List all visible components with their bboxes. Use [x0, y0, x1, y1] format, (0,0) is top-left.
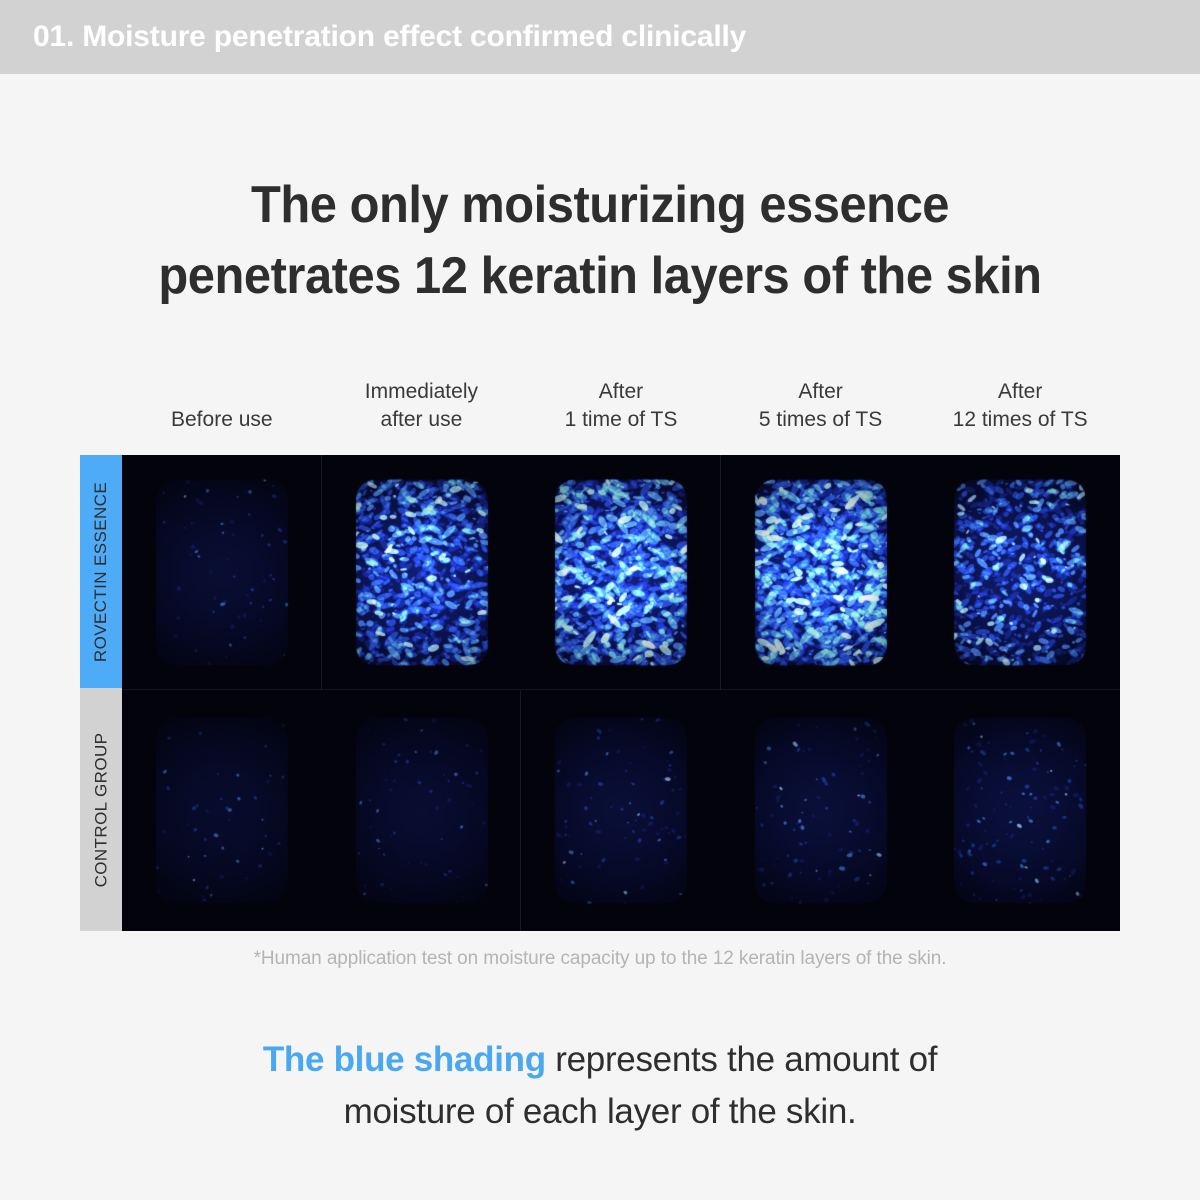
panel-control-before-use — [122, 690, 322, 931]
column-header-line-1: Before use — [122, 406, 322, 434]
caption-line-1: The blue shading represents the amount o… — [0, 1034, 1200, 1086]
panel-row-rovectin-essence — [122, 455, 1120, 690]
column-header-row: Before use Immediately after use After 1… — [122, 378, 1120, 434]
panel-essence-after-1-time — [521, 455, 721, 690]
column-header-after-12-times: After 12 times of TS — [920, 378, 1120, 434]
column-header-after-1-time: After 1 time of TS — [521, 378, 721, 434]
headline-line-2: penetrates 12 keratin layers of the skin — [36, 241, 1164, 312]
panel-essence-before-use — [122, 455, 322, 690]
panel-control-after-12-times — [920, 690, 1120, 931]
column-header-line-1: Immediately — [322, 378, 522, 406]
row-label-text: CONTROL GROUP — [91, 732, 111, 887]
column-header-after-5-times: After 5 times of TS — [721, 378, 921, 434]
column-header-before-use: Before use — [122, 378, 322, 434]
row-label-column: ROVECTIN ESSENCE CONTROL GROUP — [80, 455, 122, 931]
panel-grid — [122, 455, 1120, 931]
panel-control-after-1-time — [521, 690, 721, 931]
column-header-line-1: After — [521, 378, 721, 406]
panel-control-after-5-times — [721, 690, 921, 931]
panel-essence-immediately-after-use — [322, 455, 522, 690]
column-header-line-2: 1 time of TS — [521, 406, 721, 434]
caption-line-1-rest: represents the amount of — [546, 1040, 937, 1079]
caption-line-2: moisture of each layer of the skin. — [0, 1086, 1200, 1138]
column-header-line-1: After — [721, 378, 921, 406]
column-header-line-2: after use — [322, 406, 522, 434]
header-title: 01. Moisture penetration effect confirme… — [33, 20, 746, 54]
column-header-line-2: 5 times of TS — [721, 406, 921, 434]
column-header-immediately-after-use: Immediately after use — [322, 378, 522, 434]
page-headline: The only moisturizing essence penetrates… — [0, 170, 1200, 311]
row-label-rovectin-essence: ROVECTIN ESSENCE — [80, 455, 122, 688]
column-header-line-1: After — [920, 378, 1120, 406]
bottom-caption: The blue shading represents the amount o… — [0, 1034, 1200, 1138]
panel-essence-after-12-times — [920, 455, 1120, 690]
fluorescence-figure: ROVECTIN ESSENCE CONTROL GROUP — [80, 455, 1120, 931]
panel-row-control-group — [122, 690, 1120, 931]
header-band: 01. Moisture penetration effect confirme… — [0, 0, 1200, 74]
panel-control-immediately-after-use — [322, 690, 522, 931]
column-header-line-2: 12 times of TS — [920, 406, 1120, 434]
row-label-control-group: CONTROL GROUP — [80, 688, 122, 931]
headline-line-1: The only moisturizing essence — [36, 170, 1164, 241]
panel-essence-after-5-times — [721, 455, 921, 690]
row-label-text: ROVECTIN ESSENCE — [91, 481, 111, 661]
caption-highlight: The blue shading — [263, 1040, 546, 1079]
figure-footnote: *Human application test on moisture capa… — [0, 948, 1200, 970]
